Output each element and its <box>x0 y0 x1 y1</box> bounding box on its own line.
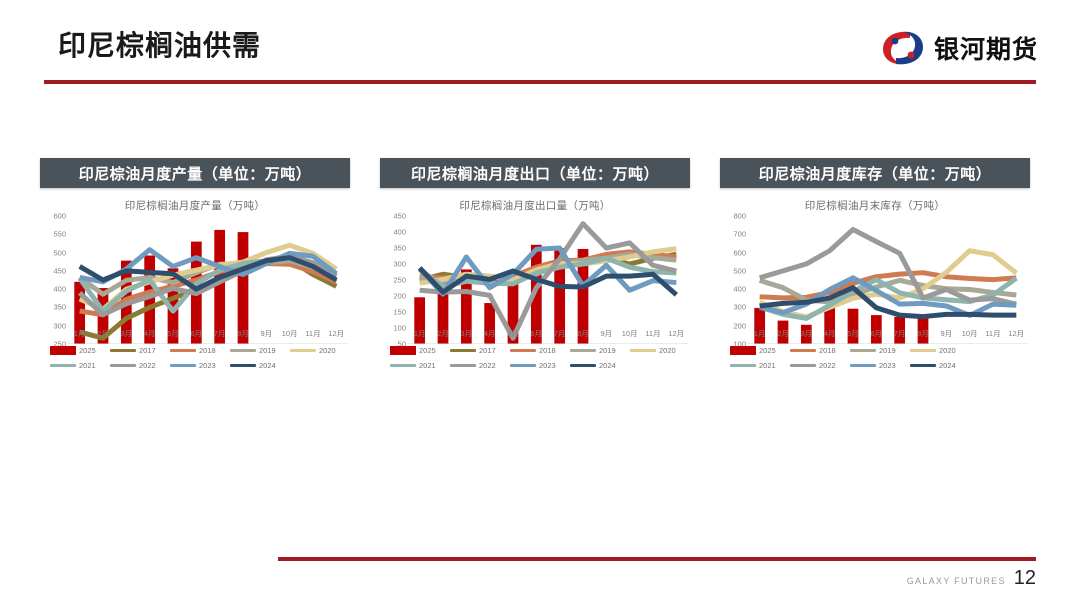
legend-label: 2024 <box>259 361 276 370</box>
legend-swatch-icon <box>110 349 136 352</box>
legend-swatch-icon <box>570 349 596 352</box>
legend-label: 2020 <box>319 346 336 355</box>
legend-label: 2023 <box>879 361 896 370</box>
legend-label: 2019 <box>599 346 616 355</box>
x-tick-label: 5月 <box>161 328 184 342</box>
y-tick-label: 400 <box>53 285 66 294</box>
y-tick-label: 550 <box>53 230 66 239</box>
plot-area-exports <box>408 216 688 344</box>
chart-card-exports: 印尼棕榈油月度出口（单位：万吨） 印尼棕榈油月度出口量（万吨） 50100150… <box>380 158 690 413</box>
chart-banner-production: 印尼棕油月度产量（单位：万吨） <box>40 158 350 188</box>
x-tick-label: 6月 <box>185 328 208 342</box>
legend-item-2025[interactable]: 2025 <box>50 346 110 355</box>
y-tick-label: 400 <box>733 285 746 294</box>
legend-swatch-icon <box>790 349 816 352</box>
legend-label: 2021 <box>759 361 776 370</box>
x-tick-label: 12月 <box>1005 328 1028 342</box>
legend-label: 2025 <box>79 346 96 355</box>
x-tick-label: 5月 <box>841 328 864 342</box>
legend-production: 202520172018201920202021202220232024 <box>50 346 350 376</box>
legend-swatch-icon <box>170 349 196 352</box>
y-tick-label: 150 <box>393 308 406 317</box>
slide-header: 印尼棕榈油供需 银河期货 <box>0 0 1080 90</box>
x-axis-exports: 1月2月3月4月5月6月7月8月9月10月11月12月 <box>408 328 688 342</box>
legend-swatch-icon <box>510 349 536 352</box>
legend-swatch-icon <box>510 364 536 367</box>
x-tick-label: 11月 <box>301 328 324 342</box>
x-tick-label: 3月 <box>455 328 478 342</box>
chart-title-exports: 印尼棕榈油月度出口量（万吨） <box>380 198 690 214</box>
chart-card-stocks: 印尼棕油月度库存（单位：万吨） 印尼棕榈油月末库存（万吨） 1002003004… <box>720 158 1030 413</box>
y-tick-label: 600 <box>53 212 66 221</box>
y-tick-label: 250 <box>393 276 406 285</box>
x-tick-label: 6月 <box>865 328 888 342</box>
y-tick-label: 300 <box>393 260 406 269</box>
y-tick-label: 800 <box>733 212 746 221</box>
legend-swatch-icon <box>790 364 816 367</box>
footer-divider <box>278 557 1036 561</box>
legend-row: 20252017201820192020 <box>390 346 690 355</box>
y-tick-label: 400 <box>393 228 406 237</box>
legend-row: 2025201820192020 <box>730 346 1030 355</box>
legend-swatch-icon <box>850 364 876 367</box>
x-tick-label: 10月 <box>958 328 981 342</box>
legend-label: 2022 <box>479 361 496 370</box>
y-tick-label: 450 <box>53 266 66 275</box>
x-axis-stocks: 1月2月3月4月5月6月7月8月9月10月11月12月 <box>748 328 1028 342</box>
x-axis-production: 1月2月3月4月5月6月7月8月9月10月11月12月 <box>68 328 348 342</box>
legend-row: 2021202220232024 <box>730 361 1030 370</box>
legend-label: 2017 <box>139 346 156 355</box>
legend-label: 2024 <box>599 361 616 370</box>
legend-swatch-icon <box>230 364 256 367</box>
galaxy-swirl-icon <box>880 28 926 68</box>
legend-item-2019[interactable]: 2019 <box>850 346 910 355</box>
legend-swatch-icon <box>910 364 936 367</box>
x-tick-label: 10月 <box>278 328 301 342</box>
page-title: 印尼棕榈油供需 <box>58 24 261 64</box>
chart-title-production: 印尼棕榈油月度产量（万吨） <box>40 198 350 214</box>
legend-item-2024[interactable]: 2024 <box>230 361 290 370</box>
y-tick-label: 300 <box>53 321 66 330</box>
x-tick-label: 6月 <box>525 328 548 342</box>
brand-name: 银河期货 <box>934 30 1038 66</box>
legend-swatch-icon <box>730 346 756 355</box>
chart-banner-stocks: 印尼棕油月度库存（单位：万吨） <box>720 158 1030 188</box>
legend-label: 2020 <box>659 346 676 355</box>
legend-label: 2022 <box>819 361 836 370</box>
header-divider <box>44 80 1036 84</box>
legend-label: 2019 <box>879 346 896 355</box>
x-tick-label: 5月 <box>501 328 524 342</box>
legend-label: 2025 <box>759 346 776 355</box>
footer-brand: GALAXY FUTURES <box>907 576 1006 588</box>
legend-swatch-icon <box>50 346 76 355</box>
legend-item-2024[interactable]: 2024 <box>570 361 630 370</box>
legend-item-2023[interactable]: 2023 <box>170 361 230 370</box>
y-tick-label: 350 <box>53 303 66 312</box>
legend-swatch-icon <box>110 364 136 367</box>
legend-swatch-icon <box>390 346 416 355</box>
x-tick-label: 8月 <box>571 328 594 342</box>
legend-swatch-icon <box>290 349 316 352</box>
x-tick-label: 4月 <box>138 328 161 342</box>
legend-row: 20252017201820192020 <box>50 346 350 355</box>
x-tick-label: 3月 <box>795 328 818 342</box>
x-tick-label: 12月 <box>325 328 348 342</box>
x-tick-label: 9月 <box>935 328 958 342</box>
y-tick-label: 500 <box>733 266 746 275</box>
x-tick-label: 10月 <box>618 328 641 342</box>
legend-label: 2021 <box>79 361 96 370</box>
y-tick-label: 200 <box>733 321 746 330</box>
legend-swatch-icon <box>730 364 756 367</box>
legend-item-2019[interactable]: 2019 <box>230 346 290 355</box>
legend-label: 2020 <box>939 346 956 355</box>
legend-item-2020[interactable]: 2020 <box>630 346 690 355</box>
plot-area-stocks <box>748 216 1028 344</box>
y-tick-label: 500 <box>53 248 66 257</box>
legend-label: 2017 <box>479 346 496 355</box>
legend-item-2023[interactable]: 2023 <box>510 361 570 370</box>
y-axis-production: 250300350400450500550600 <box>40 216 66 344</box>
x-tick-label: 2月 <box>91 328 114 342</box>
legend-swatch-icon <box>570 364 596 367</box>
chart-title-stocks: 印尼棕榈油月末库存（万吨） <box>720 198 1030 214</box>
legend-label: 2024 <box>939 361 956 370</box>
legend-label: 2018 <box>199 346 216 355</box>
legend-label: 2019 <box>259 346 276 355</box>
legend-item-2019[interactable]: 2019 <box>570 346 630 355</box>
legend-label: 2018 <box>819 346 836 355</box>
legend-swatch-icon <box>230 349 256 352</box>
legend-label: 2023 <box>199 361 216 370</box>
y-tick-label: 450 <box>393 212 406 221</box>
chart-banner-exports: 印尼棕榈油月度出口（单位：万吨） <box>380 158 690 188</box>
legend-item-2021[interactable]: 2021 <box>390 361 450 370</box>
x-tick-label: 3月 <box>115 328 138 342</box>
legend-swatch-icon <box>50 364 76 367</box>
legend-item-2024[interactable]: 2024 <box>910 361 970 370</box>
x-tick-label: 1月 <box>408 328 431 342</box>
x-tick-label: 7月 <box>548 328 571 342</box>
y-axis-stocks: 100200300400500600700800 <box>720 216 746 344</box>
legend-item-2021[interactable]: 2021 <box>730 361 790 370</box>
charts-row: 印尼棕油月度产量（单位：万吨） 印尼棕榈油月度产量（万吨） 2503003504… <box>0 158 1080 418</box>
legend-exports: 202520172018201920202021202220232024 <box>390 346 690 376</box>
legend-item-2025[interactable]: 2025 <box>390 346 450 355</box>
legend-item-2022[interactable]: 2022 <box>110 361 170 370</box>
legend-item-2017[interactable]: 2017 <box>110 346 170 355</box>
x-tick-label: 8月 <box>231 328 254 342</box>
y-tick-label: 350 <box>393 244 406 253</box>
legend-label: 2018 <box>539 346 556 355</box>
legend-row: 2021202220232024 <box>390 361 690 370</box>
x-tick-label: 2月 <box>431 328 454 342</box>
x-tick-label: 7月 <box>888 328 911 342</box>
legend-swatch-icon <box>910 349 936 352</box>
footer-meta: GALAXY FUTURES 12 <box>907 568 1036 588</box>
x-tick-label: 4月 <box>478 328 501 342</box>
legend-swatch-icon <box>450 364 476 367</box>
legend-item-2022[interactable]: 2022 <box>790 361 850 370</box>
y-axis-exports: 50100150200250300350400450 <box>380 216 406 344</box>
brand-logo: 银河期货 <box>880 26 1038 70</box>
x-tick-label: 9月 <box>595 328 618 342</box>
legend-swatch-icon <box>850 349 876 352</box>
legend-row: 2021202220232024 <box>50 361 350 370</box>
y-tick-label: 100 <box>393 324 406 333</box>
x-tick-label: 12月 <box>665 328 688 342</box>
legend-stocks: 20252018201920202021202220232024 <box>730 346 1030 376</box>
legend-item-2025[interactable]: 2025 <box>730 346 790 355</box>
legend-label: 2025 <box>419 346 436 355</box>
legend-item-2018[interactable]: 2018 <box>790 346 850 355</box>
x-tick-label: 11月 <box>641 328 664 342</box>
x-tick-label: 1月 <box>68 328 91 342</box>
x-tick-label: 2月 <box>771 328 794 342</box>
legend-item-2017[interactable]: 2017 <box>450 346 510 355</box>
legend-item-2018[interactable]: 2018 <box>510 346 570 355</box>
legend-swatch-icon <box>630 349 656 352</box>
y-tick-label: 200 <box>393 292 406 301</box>
y-tick-label: 600 <box>733 248 746 257</box>
x-tick-label: 4月 <box>818 328 841 342</box>
x-tick-label: 8月 <box>911 328 934 342</box>
x-tick-label: 9月 <box>255 328 278 342</box>
plot-area-production <box>68 216 348 344</box>
legend-item-2021[interactable]: 2021 <box>50 361 110 370</box>
legend-item-2020[interactable]: 2020 <box>910 346 970 355</box>
legend-label: 2021 <box>419 361 436 370</box>
bar-2025 <box>214 230 225 344</box>
legend-swatch-icon <box>450 349 476 352</box>
legend-swatch-icon <box>170 364 196 367</box>
x-tick-label: 1月 <box>748 328 771 342</box>
legend-item-2020[interactable]: 2020 <box>290 346 350 355</box>
page-number: 12 <box>1014 568 1036 588</box>
legend-item-2018[interactable]: 2018 <box>170 346 230 355</box>
legend-swatch-icon <box>390 364 416 367</box>
legend-label: 2023 <box>539 361 556 370</box>
legend-item-2022[interactable]: 2022 <box>450 361 510 370</box>
y-tick-label: 300 <box>733 303 746 312</box>
y-tick-label: 700 <box>733 230 746 239</box>
x-tick-label: 11月 <box>981 328 1004 342</box>
legend-item-2023[interactable]: 2023 <box>850 361 910 370</box>
legend-label: 2022 <box>139 361 156 370</box>
chart-card-production: 印尼棕油月度产量（单位：万吨） 印尼棕榈油月度产量（万吨） 2503003504… <box>40 158 350 413</box>
x-tick-label: 7月 <box>208 328 231 342</box>
